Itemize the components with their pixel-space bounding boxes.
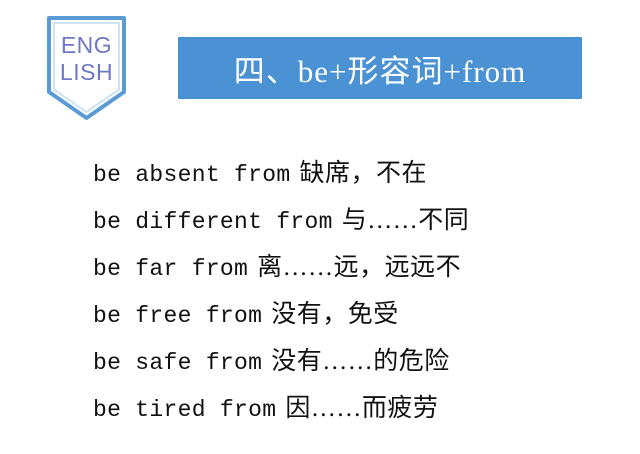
list-item: be safe from没有……的危险 — [93, 338, 613, 385]
list-item: be absent from缺席，不在 — [93, 150, 613, 197]
phrase-chinese: 因……而疲劳 — [285, 395, 438, 422]
phrase-english: be free from — [93, 303, 262, 329]
page-title: 四、be+形容词+from — [178, 37, 582, 99]
phrase-english: be tired from — [93, 397, 276, 423]
badge-label: ENG LISH — [45, 32, 128, 86]
badge-label-line2: LISH — [45, 59, 128, 86]
phrase-chinese: 与……不同 — [342, 207, 470, 234]
title-banner: 四、be+形容词+from — [178, 37, 582, 99]
phrase-english: be different from — [93, 209, 333, 235]
phrase-chinese: 没有……的危险 — [271, 348, 450, 375]
badge-label-line1: ENG — [45, 32, 128, 59]
phrase-list: be absent from缺席，不在 be different from与……… — [93, 150, 613, 432]
english-badge: ENG LISH — [45, 14, 128, 122]
list-item: be far from离……远，远远不 — [93, 244, 613, 291]
phrase-english: be absent from — [93, 162, 290, 188]
list-item: be free from没有，免受 — [93, 291, 613, 338]
phrase-english: be safe from — [93, 350, 262, 376]
list-item: be tired from因……而疲劳 — [93, 385, 613, 432]
header: ENG LISH 四、be+形容词+from — [0, 0, 640, 130]
phrase-english: be far from — [93, 256, 248, 282]
phrase-chinese: 缺席，不在 — [299, 160, 427, 187]
phrase-chinese: 离……远，远远不 — [257, 254, 461, 281]
phrase-chinese: 没有，免受 — [271, 301, 399, 328]
list-item: be different from与……不同 — [93, 197, 613, 244]
